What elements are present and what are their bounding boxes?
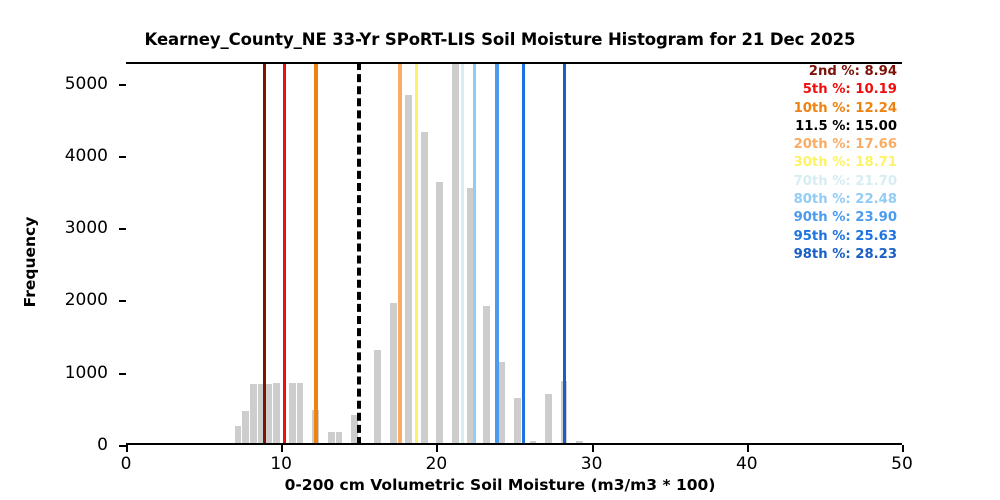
y-axis-tick-label: 5000 (65, 74, 108, 94)
x-axis-tick-label: 0 (121, 454, 132, 474)
legend-entry: 11.5 %: 15.00 (771, 118, 897, 136)
y-axis-tick-label: 4000 (65, 146, 108, 166)
y-axis-tick (119, 445, 126, 447)
histogram-figure: Kearney_County_NE 33-Yr SPoRT-LIS Soil M… (0, 0, 1000, 500)
x-axis-tick (436, 445, 438, 452)
y-axis-title: Frequency (21, 202, 39, 322)
x-axis-tick (902, 445, 904, 452)
x-axis-tick (281, 445, 283, 452)
legend-entry: 20th %: 17.66 (771, 136, 897, 154)
x-axis-tick-label: 20 (426, 454, 448, 474)
x-axis-tick (592, 445, 594, 452)
x-axis-tick (747, 445, 749, 452)
x-axis-tick-label: 50 (891, 454, 913, 474)
legend-entry: 95th %: 25.63 (771, 228, 897, 246)
x-axis-tick (126, 445, 128, 452)
x-axis-tick-label: 30 (581, 454, 603, 474)
legend-entry: 80th %: 22.48 (771, 191, 897, 209)
legend: 2nd %: 8.945th %: 10.1910th %: 12.2411.5… (771, 63, 897, 264)
legend-entry: 5th %: 10.19 (771, 81, 897, 99)
y-axis-tick-label: 3000 (65, 218, 108, 238)
legend-entry: 10th %: 12.24 (771, 100, 897, 118)
y-axis-tick (119, 84, 126, 86)
x-axis-title: 0-200 cm Volumetric Soil Moisture (m3/m3… (0, 476, 1000, 494)
legend-entry: 30th %: 18.71 (771, 154, 897, 172)
legend-entry: 2nd %: 8.94 (771, 63, 897, 81)
y-axis-tick-label: 2000 (65, 290, 108, 310)
y-axis-tick-label: 1000 (65, 363, 108, 383)
x-axis-tick-label: 40 (736, 454, 758, 474)
legend-entry: 98th %: 28.23 (771, 246, 897, 264)
y-axis-tick (119, 300, 126, 302)
y-axis-tick-label: 0 (97, 435, 108, 455)
y-axis-tick (119, 373, 126, 375)
page-title: Kearney_County_NE 33-Yr SPoRT-LIS Soil M… (0, 30, 1000, 49)
legend-entry: 90th %: 23.90 (771, 209, 897, 227)
x-axis-tick-label: 10 (270, 454, 292, 474)
y-axis-tick (119, 156, 126, 158)
legend-entry: 70th %: 21.70 (771, 173, 897, 191)
y-axis-tick (119, 228, 126, 230)
